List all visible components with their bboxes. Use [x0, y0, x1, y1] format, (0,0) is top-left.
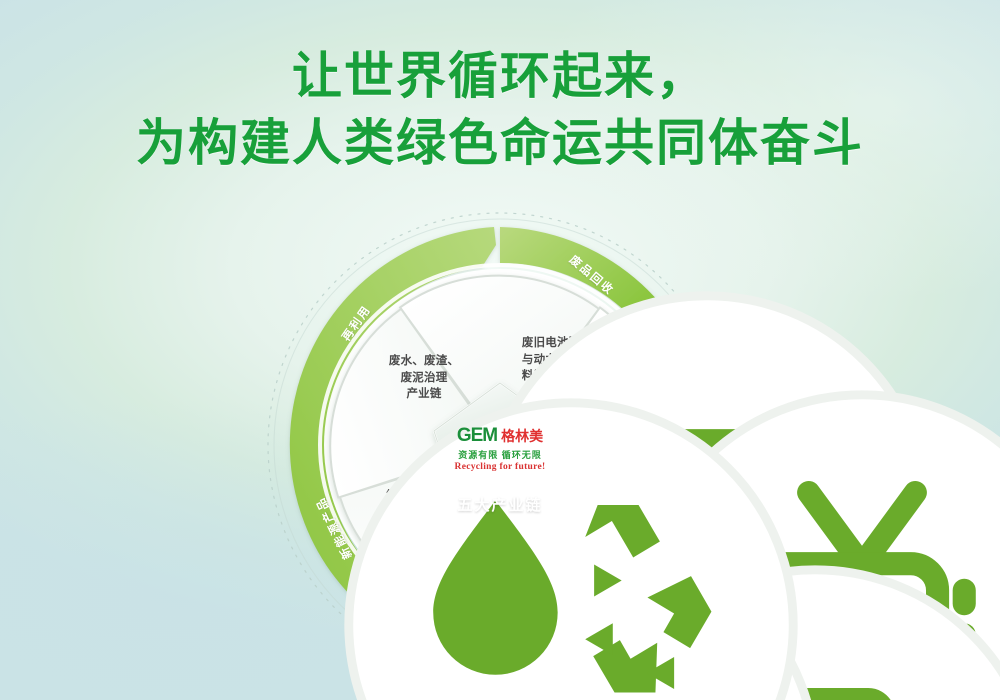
brand-slogan-cn: 资源有限 循环无限	[436, 448, 564, 461]
poster-root: 让世界循环起来， 为构建人类绿色命运共同体奋斗	[0, 0, 1000, 700]
brand-hub: GEM 格林美 资源有限 循环无限 Recycling for future! …	[436, 425, 564, 515]
title-line-1: 让世界循环起来，	[0, 46, 1000, 107]
brand-name-cn: 格林美	[501, 426, 543, 446]
brand-slogan-en: Recycling for future!	[436, 462, 564, 472]
page-title: 让世界循环起来， 为构建人类绿色命运共同体奋斗	[0, 46, 1000, 174]
title-line-2: 为构建人类绿色命运共同体奋斗	[0, 113, 1000, 174]
segment-line-2: 废泥治理	[370, 370, 478, 387]
segment-line-1: 废水、废渣、	[370, 353, 478, 370]
hub-label: 五大产业链	[436, 494, 564, 515]
brand-logo-row: GEM 格林美	[436, 425, 564, 447]
icon-badge-water-recycle[interactable]	[331, 385, 811, 700]
brand-mark: GEM	[457, 425, 497, 447]
